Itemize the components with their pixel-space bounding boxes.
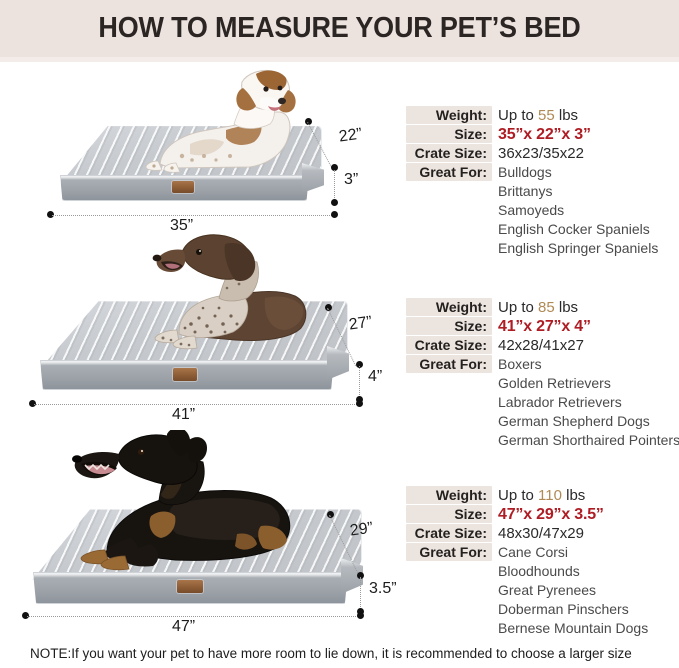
dim-label-height-small: 3” xyxy=(344,171,358,189)
dim-label-depth-large: 29” xyxy=(349,519,374,540)
breed-item: Labrador Retrievers xyxy=(498,393,679,412)
breed-list-medium: Boxers Golden Retrievers Labrador Retrie… xyxy=(498,355,679,450)
spec-row-crate: Crate Size: 42x28/41x27 xyxy=(406,336,676,355)
weight-suffix: lbs xyxy=(555,107,578,124)
weight-suffix: lbs xyxy=(562,487,585,504)
dim-label-depth-small: 22” xyxy=(338,125,363,146)
spec-table-small: Weight: Up to 55 lbs Size: 35”x 22”x 3” … xyxy=(406,106,676,182)
spec-row-size: Size: 47”x 29”x 3.5” xyxy=(406,505,676,524)
spec-value-crate-size: 42x28/41x27 xyxy=(498,336,584,354)
footer-note: NOTE:If you want your pet to have more r… xyxy=(30,646,632,661)
weight-number: 110 xyxy=(538,487,562,504)
spec-label-size: Size: xyxy=(406,505,492,523)
spec-label-great-for: Great For: xyxy=(406,355,492,373)
dim-label-height-large: 3.5” xyxy=(369,580,397,598)
spec-value-size: 41”x 27”x 4” xyxy=(498,317,591,335)
dim-dot-width-right-medium xyxy=(356,400,363,407)
spec-label-crate-size: Crate Size: xyxy=(406,336,492,354)
spec-label-size: Size: xyxy=(406,317,492,335)
dim-label-height-medium: 4” xyxy=(368,368,382,386)
spec-value-weight: Up to 85 lbs xyxy=(498,298,578,316)
spec-label-crate-size: Crate Size: xyxy=(406,524,492,542)
dim-line-width-large xyxy=(27,616,358,617)
spec-label-weight: Weight: xyxy=(406,106,492,124)
weight-prefix: Up to xyxy=(498,299,538,316)
spec-row-weight: Weight: Up to 55 lbs xyxy=(406,106,676,125)
spec-label-great-for: Great For: xyxy=(406,543,492,561)
dim-line-height-large xyxy=(360,577,361,611)
bed-illustration-small: 22” 3” 35” xyxy=(0,70,400,230)
infographic-page: HOW TO MEASURE YOUR PET’S BED xyxy=(0,0,679,668)
page-title: HOW TO MEASURE YOUR PET’S BED xyxy=(24,12,655,45)
header-band-accent xyxy=(0,57,679,62)
breed-item: Doberman Pinschers xyxy=(498,600,648,619)
weight-suffix: lbs xyxy=(555,299,578,316)
dim-line-width-medium xyxy=(34,404,357,405)
brand-tag-icon xyxy=(177,580,203,593)
breed-item: Golden Retrievers xyxy=(498,374,679,393)
breed-item: Samoyeds xyxy=(498,201,658,220)
spec-row-weight: Weight: Up to 85 lbs xyxy=(406,298,676,317)
breed-item: Brittanys xyxy=(498,182,658,201)
breed-item: Cane Corsi xyxy=(498,543,648,562)
dim-dot-height-bottom-small xyxy=(331,199,338,206)
spec-row-size: Size: 35”x 22”x 3” xyxy=(406,125,676,144)
bed-illustration-medium: 27” 4” 41” xyxy=(0,230,400,420)
weight-prefix: Up to xyxy=(498,487,538,504)
breed-item: German Shepherd Dogs xyxy=(498,412,679,431)
weight-number: 85 xyxy=(538,299,555,316)
spec-value-size: 47”x 29”x 3.5” xyxy=(498,505,604,523)
spec-row-size: Size: 41”x 27”x 4” xyxy=(406,317,676,336)
spec-value-weight: Up to 110 lbs xyxy=(498,486,585,504)
breed-list-large: Cane Corsi Bloodhounds Great Pyrenees Do… xyxy=(498,543,648,638)
dim-line-height-medium xyxy=(359,366,360,399)
dim-dot-width-right-large xyxy=(357,612,364,619)
spec-value-size: 35”x 22”x 3” xyxy=(498,125,591,143)
dim-line-width-small xyxy=(52,215,332,216)
spec-value-crate-size: 48x30/47x29 xyxy=(498,524,584,542)
dog-photo-brittany xyxy=(130,68,310,183)
dog-photo-gsp xyxy=(125,232,315,357)
spec-row-crate: Crate Size: 36x23/35x22 xyxy=(406,144,676,163)
spec-label-great-for: Great For: xyxy=(406,163,492,181)
weight-number: 55 xyxy=(538,107,555,124)
breed-item: Great Pyrenees xyxy=(498,581,648,600)
spec-value-crate-size: 36x23/35x22 xyxy=(498,144,584,162)
dim-label-depth-medium: 27” xyxy=(348,313,373,334)
spec-row-weight: Weight: Up to 110 lbs xyxy=(406,486,676,505)
breed-item: Boxers xyxy=(498,355,679,374)
bed-illustration-large: 29” 3.5” 47” xyxy=(0,420,400,640)
breed-item: Bloodhounds xyxy=(498,562,648,581)
spec-label-weight: Weight: xyxy=(406,298,492,316)
spec-label-crate-size: Crate Size: xyxy=(406,144,492,162)
spec-table-large: Weight: Up to 110 lbs Size: 47”x 29”x 3.… xyxy=(406,486,676,562)
dim-dot-width-right-small xyxy=(331,211,338,218)
spec-label-size: Size: xyxy=(406,125,492,143)
breed-item: English Cocker Spaniels xyxy=(498,220,658,239)
brand-tag-icon xyxy=(173,368,197,381)
dim-label-width-large: 47” xyxy=(172,618,195,636)
spec-value-weight: Up to 55 lbs xyxy=(498,106,578,124)
breed-item: Bulldogs xyxy=(498,163,658,182)
weight-prefix: Up to xyxy=(498,107,538,124)
spec-row-crate: Crate Size: 48x30/47x29 xyxy=(406,524,676,543)
dog-photo-doberman xyxy=(55,430,305,575)
spec-table-medium: Weight: Up to 85 lbs Size: 41”x 27”x 4” … xyxy=(406,298,676,374)
breed-item: English Springer Spaniels xyxy=(498,239,658,258)
breed-item: Bernese Mountain Dogs xyxy=(498,619,648,638)
breed-item: German Shorthaired Pointers xyxy=(498,431,679,450)
spec-label-weight: Weight: xyxy=(406,486,492,504)
breed-list-small: Bulldogs Brittanys Samoyeds English Cock… xyxy=(498,163,658,258)
dim-line-height-small xyxy=(334,170,335,202)
